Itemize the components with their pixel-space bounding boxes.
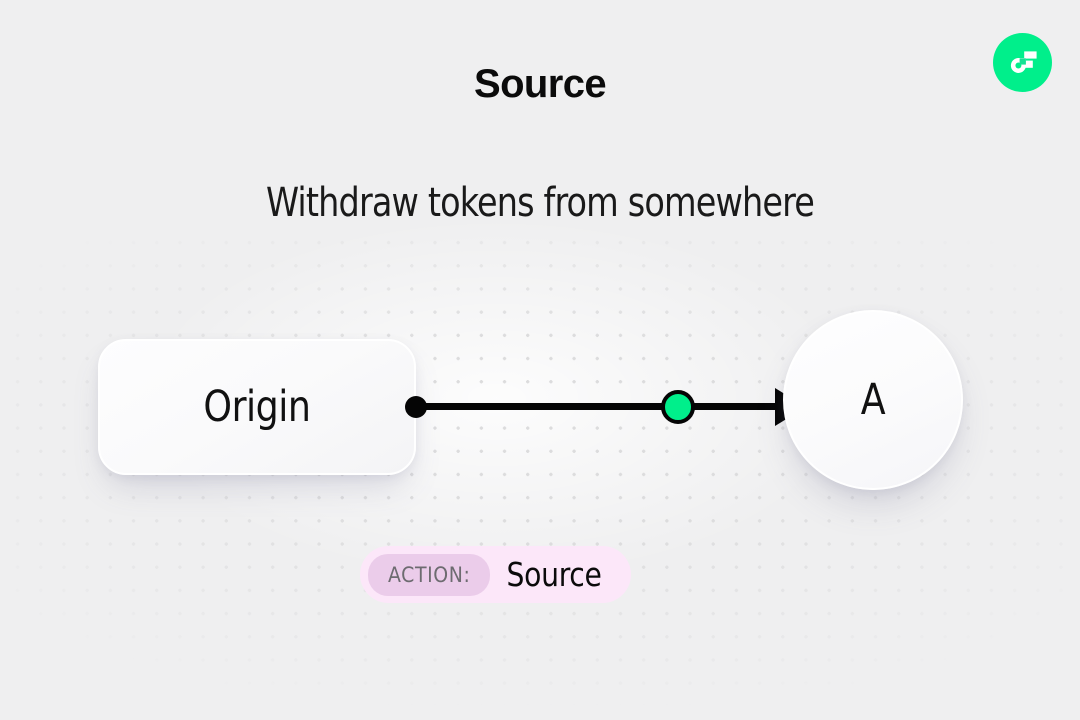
action-badge-value: Source: [507, 555, 602, 594]
action-badge: ACTION: Source: [360, 546, 631, 603]
flow-diagram: Origin A ACTION: Source: [0, 0, 1080, 720]
action-badge-key: ACTION:: [368, 554, 490, 596]
edge-source-dot-icon[interactable]: [405, 396, 427, 418]
diagram-node-a[interactable]: A: [783, 310, 963, 490]
diagram-node-origin-label: Origin: [203, 382, 310, 432]
diagram-node-a-label: A: [861, 375, 886, 425]
token-dot-icon[interactable]: [661, 390, 695, 424]
edge-line: [416, 403, 782, 410]
diagram-node-origin[interactable]: Origin: [98, 339, 416, 475]
